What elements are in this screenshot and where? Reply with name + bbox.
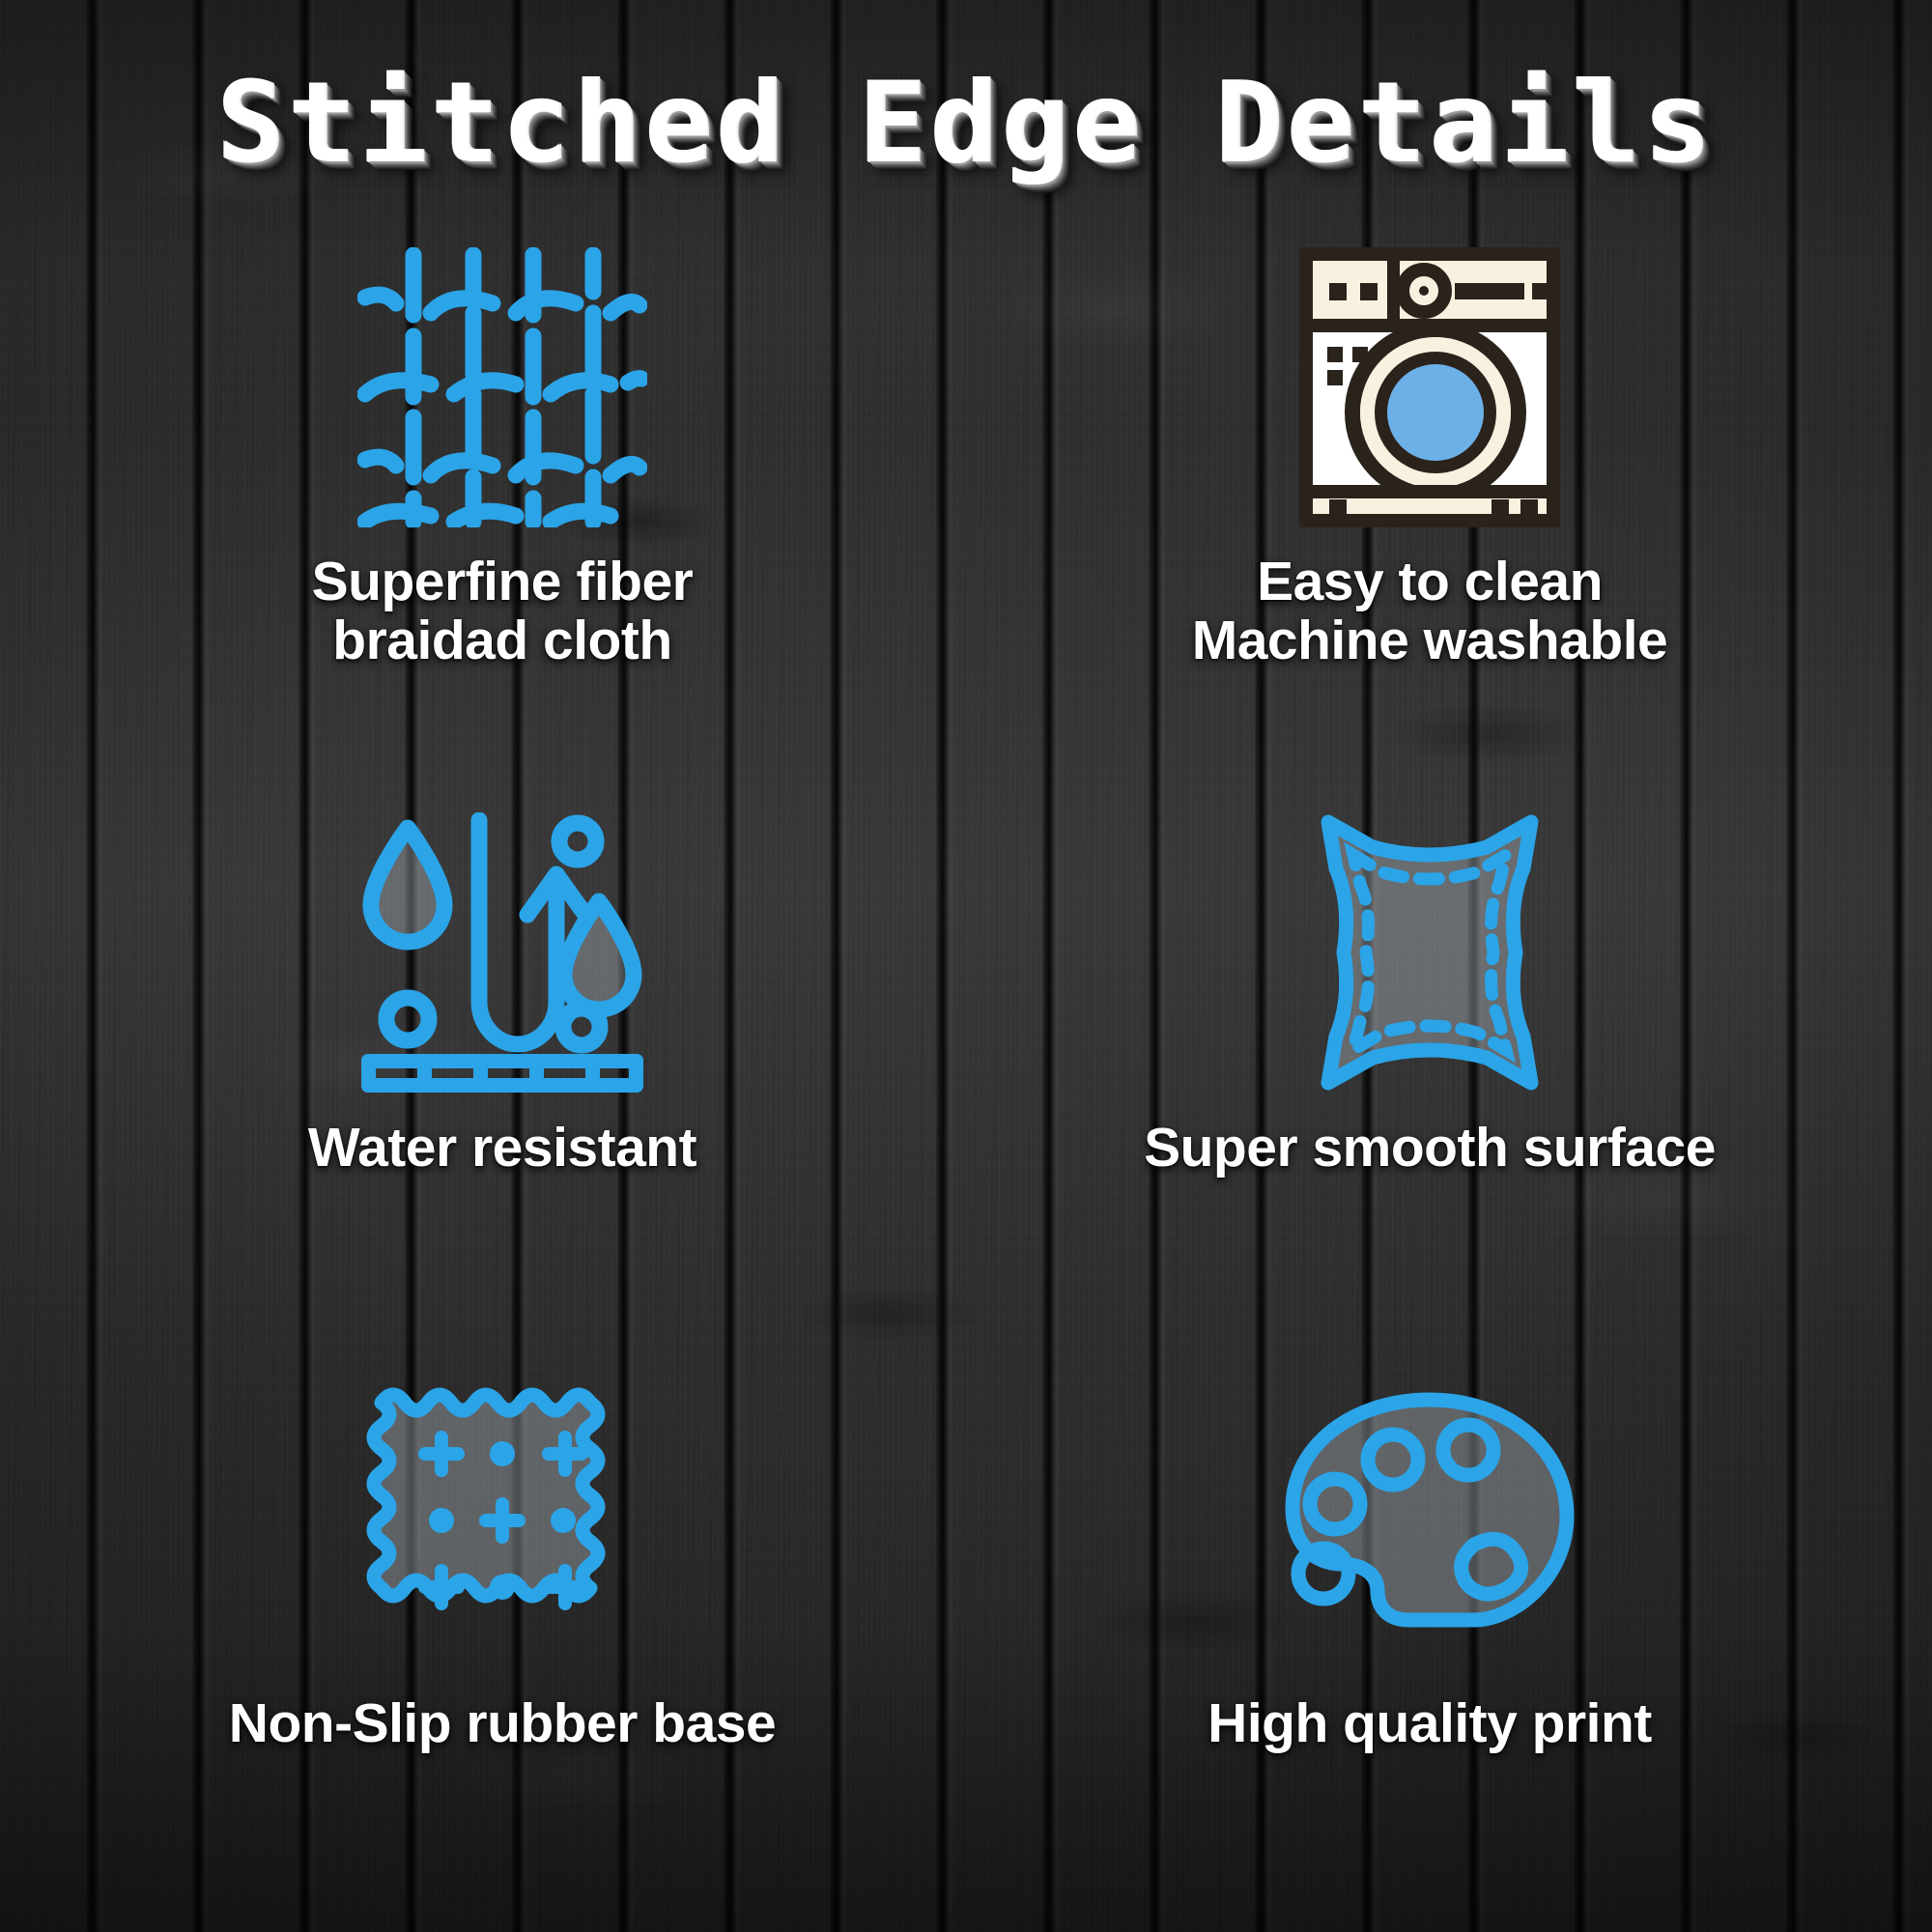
washing-machine-icon	[1294, 224, 1565, 543]
feature-card-water-resistant: Water resistant	[39, 786, 966, 1349]
woven-fabric-icon	[357, 224, 647, 543]
feature-card-non-slip-base: Non-Slip rubber base	[39, 1349, 966, 1911]
caption-line: Machine washable	[1192, 611, 1668, 670]
caption-line: Water resistant	[308, 1119, 696, 1178]
feature-grid: Superfine fiber braidad cloth	[0, 224, 1932, 1932]
leather-hide-icon	[1290, 786, 1570, 1105]
feature-caption-water-resistant: Water resistant	[300, 1119, 704, 1178]
caption-line: Super smooth surface	[1144, 1119, 1716, 1178]
feature-caption-smooth-surface: Super smooth surface	[1136, 1119, 1723, 1178]
page-title-text: Stitched Edge Details	[217, 59, 1716, 189]
caption-line: Superfine fiber	[312, 553, 694, 611]
product-infographic: Stitched Edge Details	[0, 0, 1932, 1932]
page-title: Stitched Edge Details	[217, 69, 1716, 181]
caption-line: braidad cloth	[312, 611, 694, 670]
water-repellent-icon	[357, 786, 647, 1105]
caption-line: Non-Slip rubber base	[229, 1694, 776, 1753]
feature-card-high-quality-print: High quality print	[966, 1349, 1893, 1911]
feature-card-superfine-fiber: Superfine fiber braidad cloth	[39, 224, 966, 786]
feature-caption-high-quality-print: High quality print	[1200, 1694, 1660, 1753]
feature-card-easy-to-clean: Easy to clean Machine washable	[966, 224, 1893, 786]
header-banner: Stitched Edge Details	[0, 0, 1932, 224]
feature-caption-superfine-fiber: Superfine fiber braidad cloth	[304, 553, 701, 670]
feature-caption-non-slip-base: Non-Slip rubber base	[221, 1694, 783, 1753]
paint-palette-icon	[1285, 1349, 1575, 1667]
feature-caption-easy-to-clean: Easy to clean Machine washable	[1184, 553, 1676, 670]
rubber-mat-icon	[362, 1349, 642, 1667]
feature-card-smooth-surface: Super smooth surface	[966, 786, 1893, 1349]
caption-line: Easy to clean	[1192, 553, 1668, 611]
caption-line: High quality print	[1207, 1694, 1652, 1753]
